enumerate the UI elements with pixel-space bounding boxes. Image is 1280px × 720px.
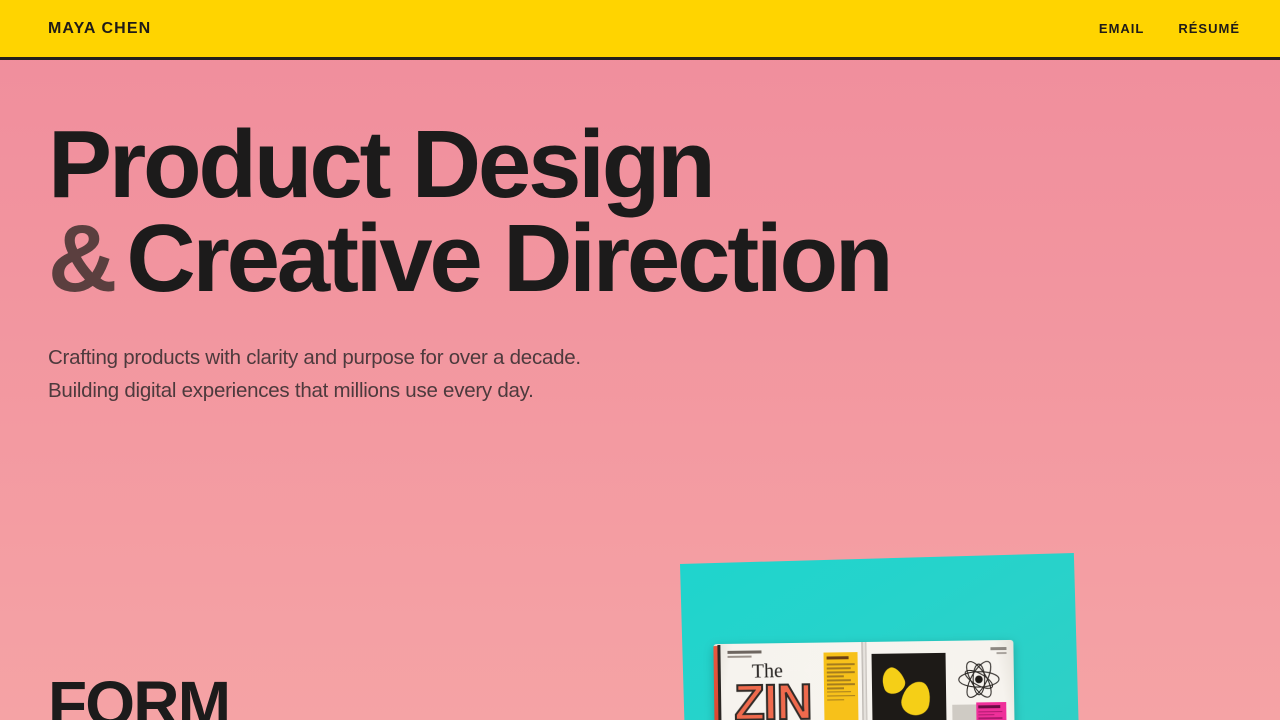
magazine-right-page	[863, 640, 1014, 720]
hero-subtitle: Crafting products with clarity and purpo…	[48, 342, 890, 407]
black-art-panel	[872, 653, 947, 720]
top-navigation-bar: MAYA CHEN EMAIL RÉSUMÉ	[0, 0, 1280, 60]
sidebar-text-rule	[827, 675, 844, 677]
sidebar-text-rule	[827, 687, 844, 689]
nav-link-resume[interactable]: RÉSUMÉ	[1178, 22, 1240, 35]
page-title: Product Design &Creative Direction	[48, 118, 890, 306]
open-magazine: The ZIN	[713, 640, 1014, 720]
sidebar-text-rule	[827, 663, 855, 665]
sticky-heading-rule	[978, 705, 1000, 708]
sidebar-text-rule	[827, 691, 851, 693]
nav-links: EMAIL RÉSUMÉ	[1099, 22, 1240, 35]
sidebar-text-rule	[827, 695, 855, 697]
sticky-text-rule	[978, 711, 1002, 713]
page-edge-stripe-dark	[717, 645, 721, 720]
sticky-text-rule	[978, 717, 1002, 719]
headline-line-two: &Creative Direction	[48, 212, 890, 306]
sticky-text-rule	[978, 714, 994, 716]
section-heading-form: FORM	[48, 672, 229, 720]
sidebar-text-rule	[827, 679, 851, 681]
left-page-kicker-rule-secondary	[728, 656, 752, 658]
magazine-photo: The ZIN	[660, 548, 1100, 720]
sidebar-text-rule	[827, 671, 855, 673]
right-page-corner-rule	[990, 647, 1006, 650]
hero-subtitle-line-one: Crafting products with clarity and purpo…	[48, 342, 890, 374]
magazine-left-page: The ZIN	[713, 642, 864, 720]
sidebar-heading-rule	[827, 656, 849, 659]
sidebar-text-rule	[827, 667, 851, 669]
brand-name[interactable]: MAYA CHEN	[48, 21, 151, 37]
sidebar-text-rule	[827, 699, 844, 701]
magazine-title-zin: ZIN	[734, 677, 812, 720]
headline-line-two-text: Creative Direction	[126, 205, 890, 312]
hero-subtitle-line-two: Building digital experiences that millio…	[48, 375, 890, 407]
ampersand-glyph: &	[48, 205, 126, 312]
left-page-kicker-rule	[727, 650, 761, 653]
atom-diagram-icon	[956, 656, 1003, 703]
headline-line-one: Product Design	[48, 118, 890, 212]
yellow-sidebar-column	[824, 652, 859, 720]
nav-link-email[interactable]: EMAIL	[1099, 22, 1144, 35]
sidebar-text-rule	[827, 683, 855, 685]
right-page-corner-rule-secondary	[997, 652, 1007, 654]
magenta-sticky-note	[976, 702, 1006, 720]
hero-section: Product Design &Creative Direction Craft…	[48, 118, 890, 407]
portfolio-landing-page: MAYA CHEN EMAIL RÉSUMÉ Product Design &C…	[0, 0, 1280, 720]
